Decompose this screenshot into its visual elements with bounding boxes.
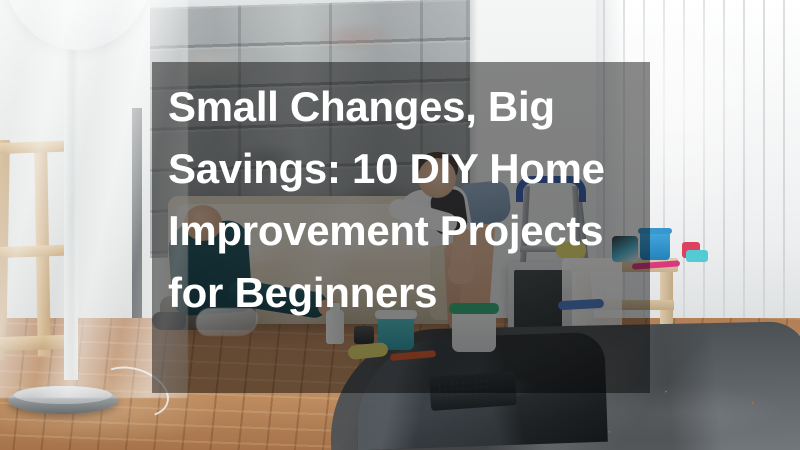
article-hero-banner: Small Changes, Big Savings: 10 DIY Home … (0, 0, 800, 450)
page-title: Small Changes, Big Savings: 10 DIY Home … (168, 76, 632, 324)
title-overlay: Small Changes, Big Savings: 10 DIY Home … (152, 62, 650, 393)
cyan-tool (686, 250, 708, 262)
